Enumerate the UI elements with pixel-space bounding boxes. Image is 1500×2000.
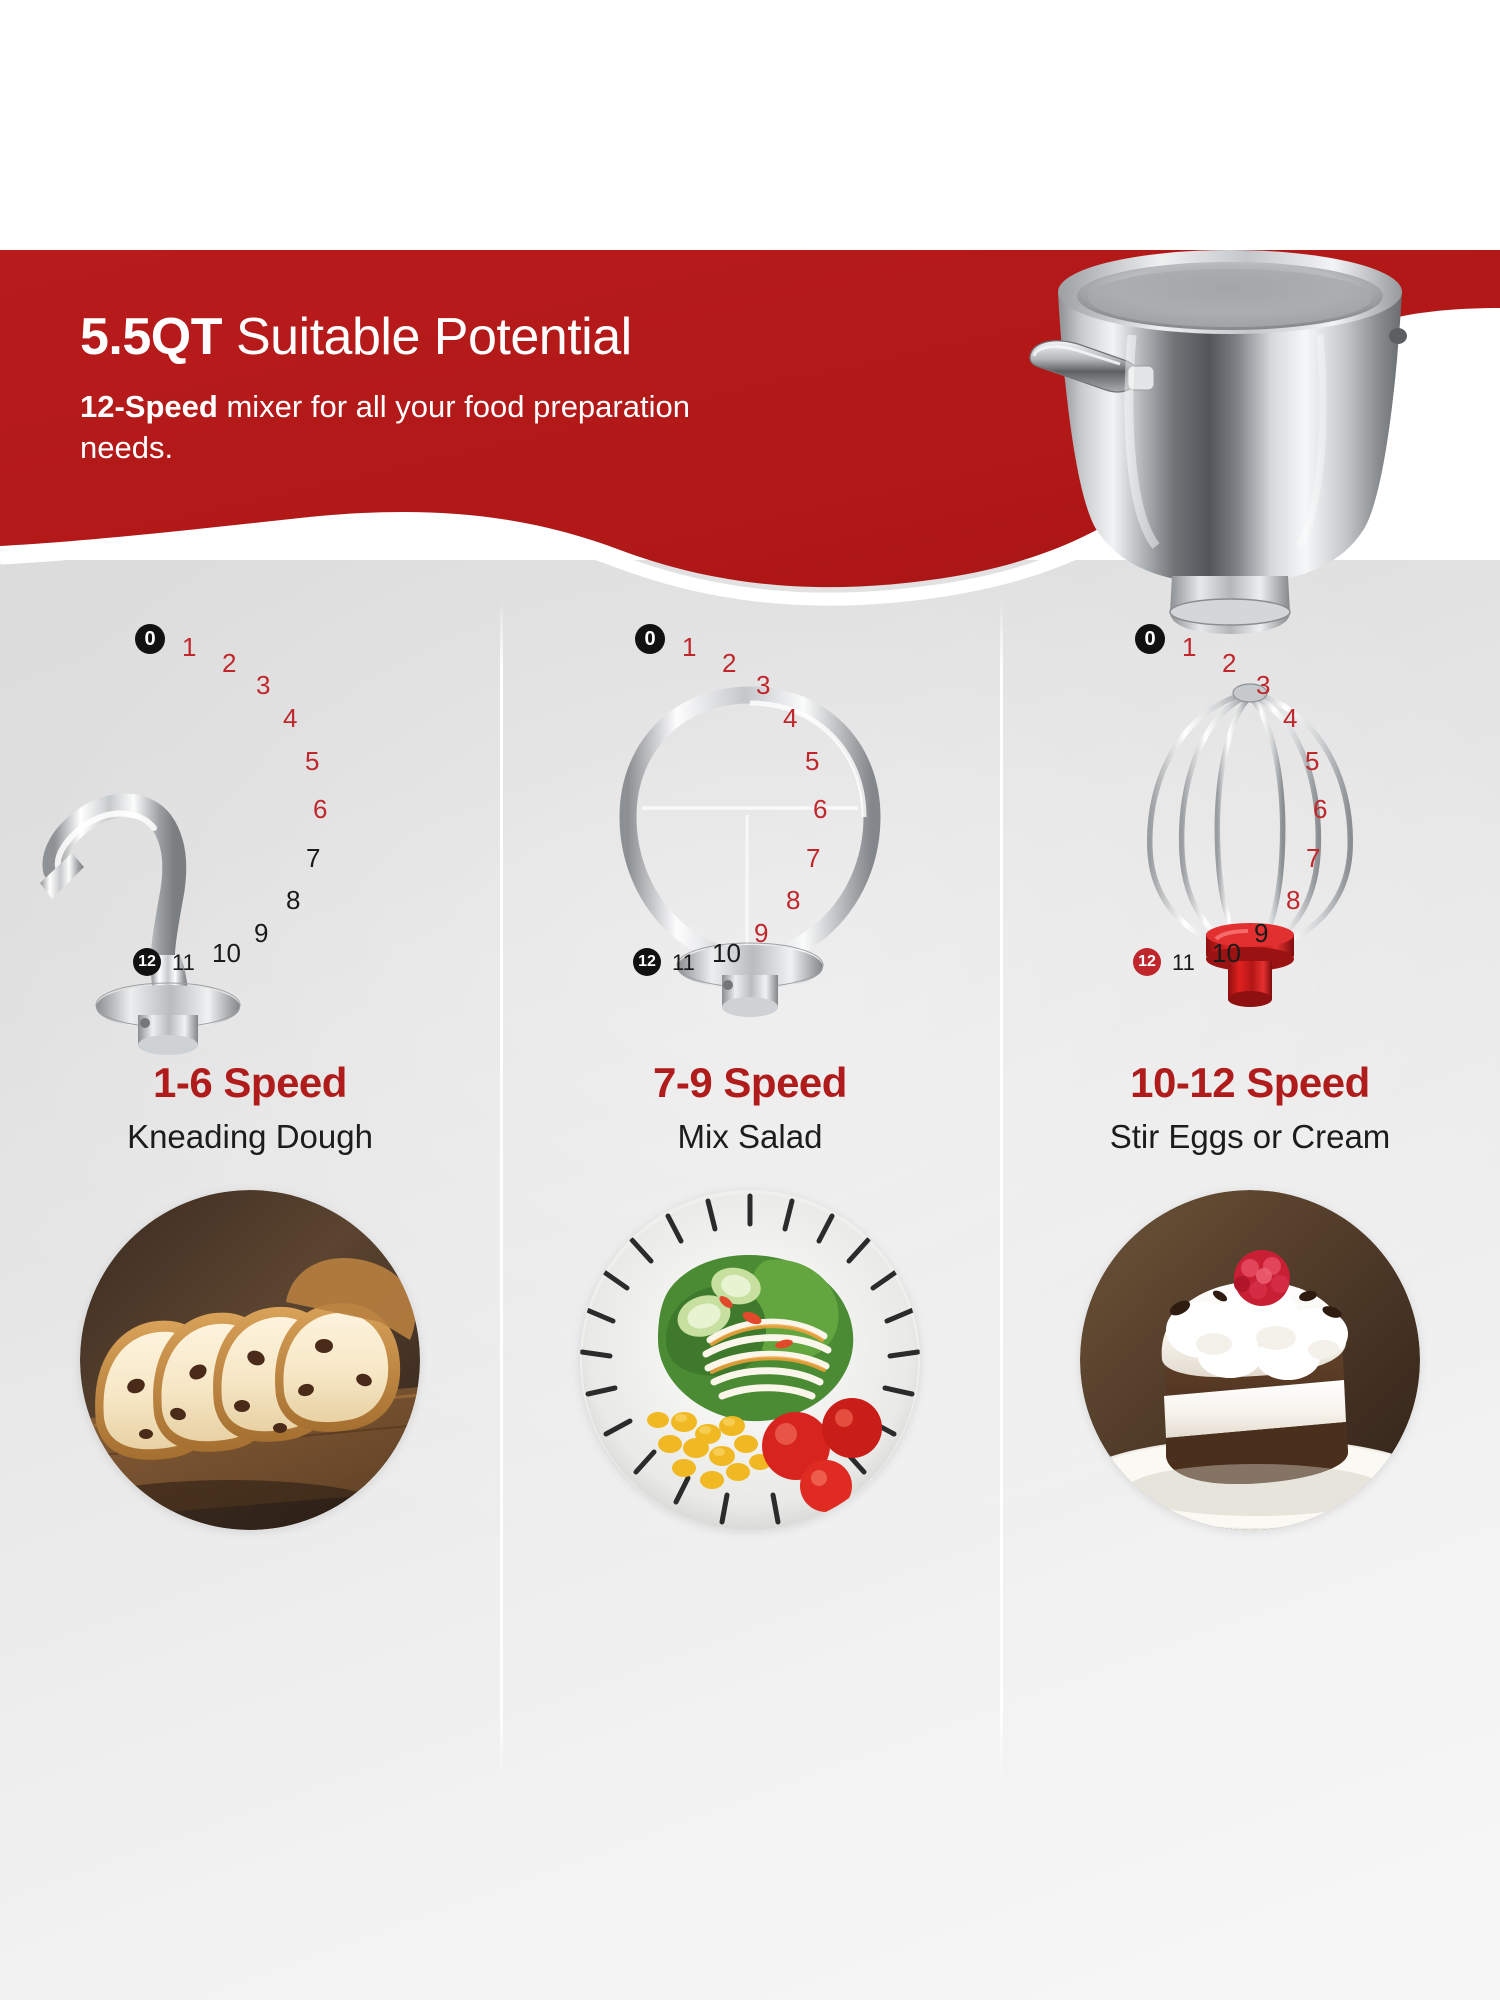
dial-number-5: 5 [805,748,819,774]
dough-hook-image [0,655,500,1055]
dial-number-2: 2 [222,650,236,676]
dial-number-4: 4 [783,705,797,731]
dial-number-3: 3 [1256,672,1270,698]
headline-capacity: 5.5QT [80,308,222,366]
dial-number-7: 7 [1306,845,1320,871]
dial-number-4: 4 [1283,705,1297,731]
infographic-page: 5.5QT Suitable Potential 12-Speed mixer … [0,0,1500,2000]
flat-beater-image [500,655,1000,1055]
column-2-labels: 7-9 Speed Mix Salad [500,1060,1000,1156]
mixing-bowl-illustration [1020,240,1440,640]
headline-rest: Suitable Potential [222,308,632,366]
column-1-labels: 1-6 Speed Kneading Dough [0,1060,500,1156]
speed-dial-3: 0 1 2 3 4 5 6 7 8 9 10 11 12 [1000,600,1500,1050]
hook-pin [140,1018,150,1028]
dial-number-8: 8 [1286,887,1300,913]
food-photo-cake [1080,1190,1420,1530]
speed-dial-2: 0 1 2 3 4 5 6 7 8 9 10 11 12 [500,600,1000,1050]
speed-range-title-2: 7-9 Speed [500,1060,1000,1106]
speed-usage-desc-2: Mix Salad [500,1118,1000,1156]
dial-number-5: 5 [1305,748,1319,774]
speed-range-title-1: 1-6 Speed [0,1060,500,1106]
feature-columns: 0 1 2 3 4 5 6 7 8 9 10 11 12 1-6 Speed K… [0,600,1500,2000]
subheadline-speed: 12-Speed [80,389,218,424]
dial-number-9: 9 [1254,920,1268,946]
speed-dial-1: 0 1 2 3 4 5 6 7 8 9 10 11 12 [0,600,500,1050]
wire-whisk-illustration [1000,655,1500,1055]
beater-shank-bottom [722,997,778,1017]
speed-usage-desc-1: Kneading Dough [0,1118,500,1156]
dial-number-0: 0 [1135,624,1165,654]
dial-number-10: 10 [712,940,741,966]
feature-column-2: 0 1 2 3 4 5 6 7 8 9 10 11 12 7-9 Speed M… [500,600,1000,2000]
column-divider-2 [1000,600,1003,1780]
dial-number-1: 1 [1182,634,1196,660]
feature-column-3: 0 1 2 3 4 5 6 7 8 9 10 11 12 10-12 Speed… [1000,600,1500,2000]
dial-number-0: 0 [635,624,665,654]
dial-number-3: 3 [756,672,770,698]
dial-number-9: 9 [754,920,768,946]
dial-number-5: 5 [305,748,319,774]
dial-number-4: 4 [283,705,297,731]
bowl-interior-shade [1088,269,1372,327]
dial-number-9: 9 [254,920,268,946]
dough-hook-illustration [0,655,500,1055]
dial-number-0: 0 [135,624,165,654]
food-photo-1-wrap [80,1190,420,1530]
speed-range-title-3: 10-12 Speed [1000,1060,1500,1106]
food-photo-3-wrap [1080,1190,1420,1530]
dial-number-6: 6 [313,796,327,822]
dial-number-6: 6 [813,796,827,822]
food-photo-bread [80,1190,420,1530]
food-photo-2-wrap [580,1190,920,1530]
dial-number-12: 12 [1133,948,1161,976]
dial-number-6: 6 [1313,796,1327,822]
raspberry [1234,1250,1290,1306]
dial-number-12: 12 [633,948,661,976]
dial-number-1: 1 [682,634,696,660]
wire-whisk-image [1000,655,1500,1055]
dial-number-1: 1 [182,634,196,660]
dial-number-11: 11 [672,952,695,974]
page-subheadline: 12-Speed mixer for all your food prepara… [80,387,780,469]
dial-number-8: 8 [786,887,800,913]
dial-number-8: 8 [286,887,300,913]
dial-number-2: 2 [1222,650,1236,676]
page-headline: 5.5QT Suitable Potential [80,310,980,365]
speed-usage-desc-3: Stir Eggs or Cream [1000,1118,1500,1156]
dial-number-7: 7 [306,845,320,871]
dial-number-2: 2 [722,650,736,676]
flat-beater-illustration [500,655,1000,1055]
dial-number-7: 7 [806,845,820,871]
beater-pin [723,980,733,990]
banner-text-block: 5.5QT Suitable Potential 12-Speed mixer … [80,310,980,469]
bowl-body [1058,292,1402,584]
column-divider-1 [500,600,503,1780]
bowl-rivet [1389,328,1407,344]
whisk-shank-bottom [1228,991,1272,1007]
dial-number-10: 10 [1212,940,1241,966]
dial-number-12: 12 [133,948,161,976]
cake-photo-illustration [1080,1190,1420,1530]
dial-number-11: 11 [172,952,195,974]
dial-number-10: 10 [212,940,241,966]
salad-photo-illustration [580,1190,920,1530]
hook-shank-bottom [138,1035,198,1055]
mixing-bowl-image [1020,240,1440,640]
bread-photo-illustration [80,1190,420,1530]
dial-number-11: 11 [1172,952,1195,974]
food-photo-salad [580,1190,920,1530]
feature-column-1: 0 1 2 3 4 5 6 7 8 9 10 11 12 1-6 Speed K… [0,600,500,2000]
column-3-labels: 10-12 Speed Stir Eggs or Cream [1000,1060,1500,1156]
dial-number-3: 3 [256,672,270,698]
